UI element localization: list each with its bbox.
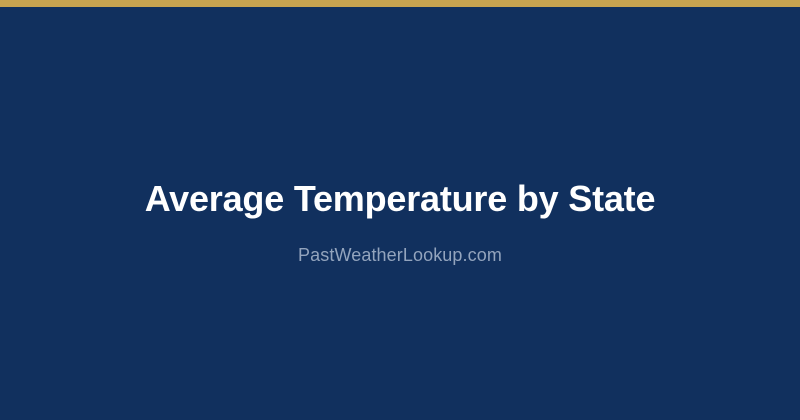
top-gold-accent-bar [0, 0, 800, 7]
page-title: Average Temperature by State [145, 178, 656, 219]
hero-text-block: Average Temperature by State PastWeather… [0, 7, 800, 420]
title-card: Average Temperature by State PastWeather… [0, 0, 800, 420]
site-name-label: PastWeatherLookup.com [298, 245, 502, 267]
